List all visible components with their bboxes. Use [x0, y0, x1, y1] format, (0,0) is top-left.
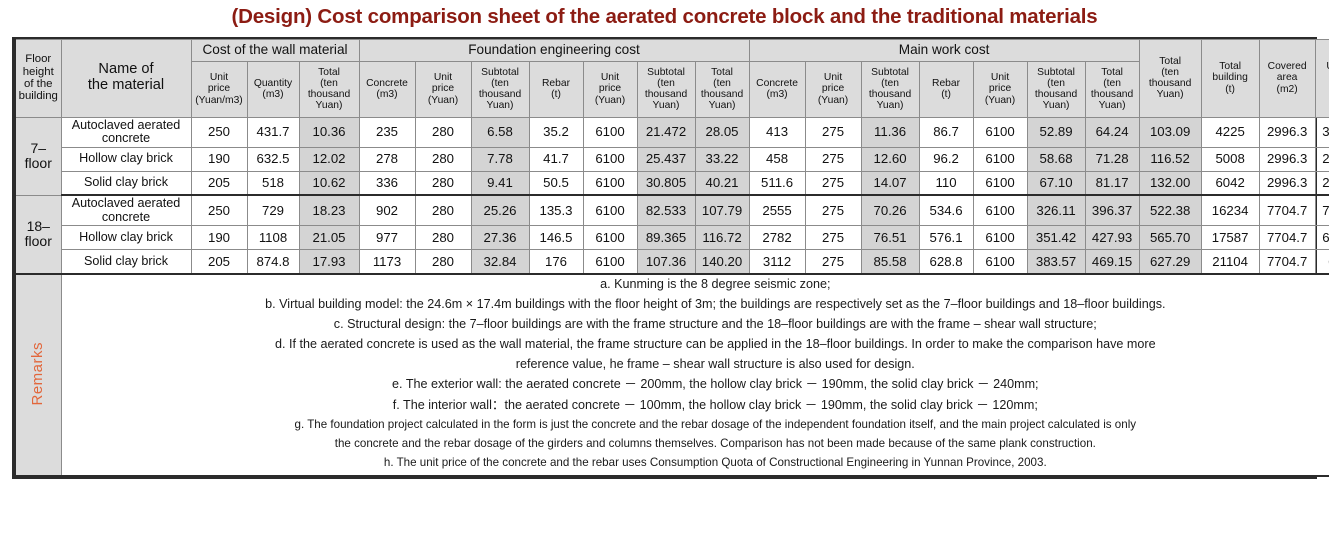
data-cell: 383.57 [1027, 250, 1085, 274]
header-group-row: Floorheightof thebuilding Name ofthe mat… [15, 39, 1329, 61]
data-cell: 977 [359, 226, 415, 250]
cost-comparison-table: Floorheightof thebuilding Name ofthe mat… [14, 39, 1329, 478]
data-cell: 21.472 [637, 117, 695, 147]
data-cell: 326.11 [1027, 195, 1085, 226]
data-cell: 431.7 [247, 117, 299, 147]
data-cell: 64.24 [1085, 117, 1139, 147]
data-cell: 32.84 [471, 250, 529, 274]
header-fnd-concrete: Concrete(m3) [359, 61, 415, 117]
data-cell: 6100 [973, 117, 1027, 147]
page-root: (Design) Cost comparison sheet of the ae… [0, 0, 1329, 545]
data-cell: 522.38 [1139, 195, 1201, 226]
data-cell: 275 [805, 171, 861, 195]
data-cell: 50.5 [529, 171, 583, 195]
data-cell: 280 [415, 117, 471, 147]
data-cell: 132.00 [1139, 171, 1201, 195]
data-cell: 40.21 [695, 171, 749, 195]
remarks-line: c. Structural design: the 7–floor buildi… [64, 316, 1329, 333]
header-main-rebar-subtotal: Subtotal(tenthousandYuan) [1027, 61, 1085, 117]
header-fnd-concrete-subtotal: Subtotal(tenthousandYuan) [471, 61, 529, 117]
data-cell: 275 [805, 147, 861, 171]
header-group-main-work-cost: Main work cost [749, 39, 1139, 61]
data-cell: 82.533 [637, 195, 695, 226]
data-cell: 6100 [973, 250, 1027, 274]
table-row: Solid clay brick205874.817.93117328032.8… [15, 250, 1329, 274]
data-cell: 2996.3 [1259, 171, 1315, 195]
data-cell: 469.15 [1085, 250, 1139, 274]
data-cell: 6.58 [471, 117, 529, 147]
data-cell: 11.36 [861, 117, 919, 147]
data-cell: 6100 [973, 171, 1027, 195]
data-cell: 67.10 [1027, 171, 1085, 195]
data-cell: 458 [749, 147, 805, 171]
header-main-total: Total(tenthousandYuan) [1085, 61, 1139, 117]
remarks-line: the concrete and the rebar dosage of the… [64, 436, 1329, 452]
data-cell: 576.1 [919, 226, 973, 250]
data-cell: 190 [191, 147, 247, 171]
remarks-line: reference value, he frame – shear wall s… [64, 356, 1329, 373]
data-cell: 4225 [1201, 117, 1259, 147]
header-fnd-concrete-unit-price: Unitprice(Yuan) [415, 61, 471, 117]
data-cell: 275 [805, 117, 861, 147]
data-cell: 250 [191, 117, 247, 147]
data-cell: 7704.7 [1259, 195, 1315, 226]
data-cell: 235 [359, 117, 415, 147]
remarks-line: h. The unit price of the concrete and th… [64, 455, 1329, 471]
data-cell: 275 [805, 226, 861, 250]
data-cell: 6042 [1201, 171, 1259, 195]
data-cell: 71.28 [1085, 147, 1139, 171]
data-cell: 7043.3 [1315, 195, 1329, 226]
data-cell: 7704.7 [1259, 226, 1315, 250]
data-cell: 25.26 [471, 195, 529, 226]
data-cell: 874.8 [247, 250, 299, 274]
data-cell: 396.37 [1085, 195, 1139, 226]
header-fnd-rebar-unit-price: Unitprice(Yuan) [583, 61, 637, 117]
data-cell: 518 [247, 171, 299, 195]
data-cell: 534.6 [919, 195, 973, 226]
data-cell: 176 [529, 250, 583, 274]
data-cell: 280 [415, 171, 471, 195]
data-cell: 6100 [583, 195, 637, 226]
data-cell: 7704.7 [1259, 250, 1315, 274]
header-covered-area: Coveredarea(m2) [1259, 39, 1315, 117]
data-cell: 28.05 [695, 117, 749, 147]
data-cell: 30.805 [637, 171, 695, 195]
data-cell: 41.7 [529, 147, 583, 171]
data-cell: 107.36 [637, 250, 695, 274]
header-fnd-rebar-subtotal: Subtotal(tenthousandYuan) [637, 61, 695, 117]
data-cell: 86.7 [919, 117, 973, 147]
data-cell: 628.8 [919, 250, 973, 274]
table-row: Hollow clay brick190632.512.022782807.78… [15, 147, 1329, 171]
header-floor-height: Floorheightof thebuilding [15, 39, 61, 117]
material-name-cell: Hollow clay brick [61, 226, 191, 250]
table-row: Solid clay brick20551810.623362809.4150.… [15, 171, 1329, 195]
remarks-line: a. Kunming is the 8 degree seismic zone; [64, 276, 1329, 293]
data-cell: 280 [415, 250, 471, 274]
data-cell: 17587 [1201, 226, 1259, 250]
data-cell: 511.6 [749, 171, 805, 195]
row-group-label: 18–floor [15, 195, 61, 274]
data-cell: 6100 [973, 147, 1027, 171]
remarks-line: e. The exterior wall: the aerated concre… [64, 376, 1329, 393]
data-cell: 3112 [749, 250, 805, 274]
data-cell: 3739.1 [1315, 117, 1329, 147]
data-cell: 146.5 [529, 226, 583, 250]
header-main-concrete-unit-price: Unitprice(Yuan) [805, 61, 861, 117]
table-row: 18–floorAutoclaved aerated concrete25072… [15, 195, 1329, 226]
header-fnd-total: Total(tenthousandYuan) [695, 61, 749, 117]
data-cell: 110 [919, 171, 973, 195]
header-name-of-material: Name ofthe material [61, 39, 191, 117]
data-cell: 1108 [247, 226, 299, 250]
header-group-foundation-cost: Foundation engineering cost [359, 39, 749, 61]
remarks-label: Remarks [30, 342, 46, 406]
data-cell: 116.52 [1139, 147, 1201, 171]
row-group-label: 7–floor [15, 117, 61, 195]
data-cell: 275 [805, 195, 861, 226]
remarks-label-cell: Remarks [15, 274, 61, 476]
data-cell: 278 [359, 147, 415, 171]
data-cell: 2619.3 [1315, 147, 1329, 171]
header-main-rebar: Rebar(t) [919, 61, 973, 117]
data-cell: 6100 [583, 117, 637, 147]
data-cell: 1173 [359, 250, 415, 274]
data-cell: 27.36 [471, 226, 529, 250]
material-name-cell: Autoclaved aerated concrete [61, 117, 191, 147]
data-cell: 902 [359, 195, 415, 226]
remarks-body: a. Kunming is the 8 degree seismic zone;… [61, 274, 1329, 476]
data-cell: 21.05 [299, 226, 359, 250]
data-cell: 9.41 [471, 171, 529, 195]
data-cell: 17.93 [299, 250, 359, 274]
remarks-row: Remarks a. Kunming is the 8 degree seism… [15, 274, 1329, 476]
material-name-cell: Autoclaved aerated concrete [61, 195, 191, 226]
header-wall-unit-price: Unitprice(Yuan/m3) [191, 61, 247, 117]
data-cell: 116.72 [695, 226, 749, 250]
data-cell: 2520.1 [1315, 171, 1329, 195]
data-cell: 351.42 [1027, 226, 1085, 250]
data-cell: 16234 [1201, 195, 1259, 226]
header-group-wall-cost: Cost of the wall material [191, 39, 359, 61]
header-total-building-t: Totalbuilding(t) [1201, 39, 1259, 117]
data-cell: 89.365 [637, 226, 695, 250]
data-cell: 729 [247, 195, 299, 226]
remarks-line: b. Virtual building model: the 24.6m × 1… [64, 296, 1329, 313]
data-cell: 18.23 [299, 195, 359, 226]
data-cell: 205 [191, 250, 247, 274]
header-total-ten-thousand-yuan: Total(tenthousandYuan) [1139, 39, 1201, 117]
remarks-line: f. The interior wall：the aerated concret… [64, 397, 1329, 414]
header-main-rebar-unit-price: Unitprice(Yuan) [973, 61, 1027, 117]
table-row: Hollow clay brick190110821.0597728027.36… [15, 226, 1329, 250]
data-cell: 205 [191, 171, 247, 195]
data-cell: 6100 [583, 147, 637, 171]
material-name-cell: Hollow clay brick [61, 147, 191, 171]
data-cell: 35.2 [529, 117, 583, 147]
data-cell: 52.89 [1027, 117, 1085, 147]
data-cell: 10.36 [299, 117, 359, 147]
header-fnd-rebar: Rebar(t) [529, 61, 583, 117]
data-cell: 107.79 [695, 195, 749, 226]
header-wall-total: Total(tenthousandYuan) [299, 61, 359, 117]
data-cell: 58.68 [1027, 147, 1085, 171]
data-cell: 6100 [973, 195, 1027, 226]
data-cell: 2555 [749, 195, 805, 226]
data-cell: 6735.4 [1315, 226, 1329, 250]
data-cell: 76.51 [861, 226, 919, 250]
data-cell: 280 [415, 195, 471, 226]
data-cell: 2782 [749, 226, 805, 250]
header-usable-area: Usablearea(m2) [1315, 39, 1329, 117]
data-cell: 2996.3 [1259, 147, 1315, 171]
data-cell: 413 [749, 117, 805, 147]
data-cell: 135.3 [529, 195, 583, 226]
data-cell: 10.62 [299, 171, 359, 195]
data-cell: 85.58 [861, 250, 919, 274]
data-cell: 275 [805, 250, 861, 274]
data-cell: 103.09 [1139, 117, 1201, 147]
data-cell: 427.93 [1085, 226, 1139, 250]
data-cell: 6100 [583, 171, 637, 195]
data-cell: 12.60 [861, 147, 919, 171]
header-main-concrete-subtotal: Subtotal(tenthousandYuan) [861, 61, 919, 117]
data-cell: 6100 [973, 226, 1027, 250]
data-cell: 6100 [583, 250, 637, 274]
cost-comparison-table-wrapper: Floorheightof thebuilding Name ofthe mat… [12, 37, 1317, 480]
data-cell: 81.17 [1085, 171, 1139, 195]
material-name-cell: Solid clay brick [61, 171, 191, 195]
data-cell: 12.02 [299, 147, 359, 171]
data-cell: 632.5 [247, 147, 299, 171]
data-cell: 7.78 [471, 147, 529, 171]
data-cell: 33.22 [695, 147, 749, 171]
data-cell: 21104 [1201, 250, 1259, 274]
header-main-concrete: Concrete(m3) [749, 61, 805, 117]
page-title: (Design) Cost comparison sheet of the ae… [0, 0, 1329, 37]
data-cell: 190 [191, 226, 247, 250]
data-cell: 280 [415, 147, 471, 171]
data-cell: 96.2 [919, 147, 973, 171]
header-sub-row: Unitprice(Yuan/m3) Quantity(m3) Total(te… [15, 61, 1329, 117]
data-cell: 2996.3 [1259, 117, 1315, 147]
data-cell: 6911 [1315, 250, 1329, 274]
table-row: 7–floorAutoclaved aerated concrete250431… [15, 117, 1329, 147]
data-cell: 336 [359, 171, 415, 195]
data-cell: 627.29 [1139, 250, 1201, 274]
data-cell: 6100 [583, 226, 637, 250]
data-cell: 25.437 [637, 147, 695, 171]
data-cell: 5008 [1201, 147, 1259, 171]
header-wall-quantity: Quantity(m3) [247, 61, 299, 117]
remarks-line: g. The foundation project calculated in … [64, 417, 1329, 433]
data-cell: 280 [415, 226, 471, 250]
data-cell: 140.20 [695, 250, 749, 274]
data-cell: 250 [191, 195, 247, 226]
data-cell: 70.26 [861, 195, 919, 226]
material-name-cell: Solid clay brick [61, 250, 191, 274]
remarks-line: d. If the aerated concrete is used as th… [64, 336, 1329, 353]
data-cell: 565.70 [1139, 226, 1201, 250]
data-cell: 14.07 [861, 171, 919, 195]
